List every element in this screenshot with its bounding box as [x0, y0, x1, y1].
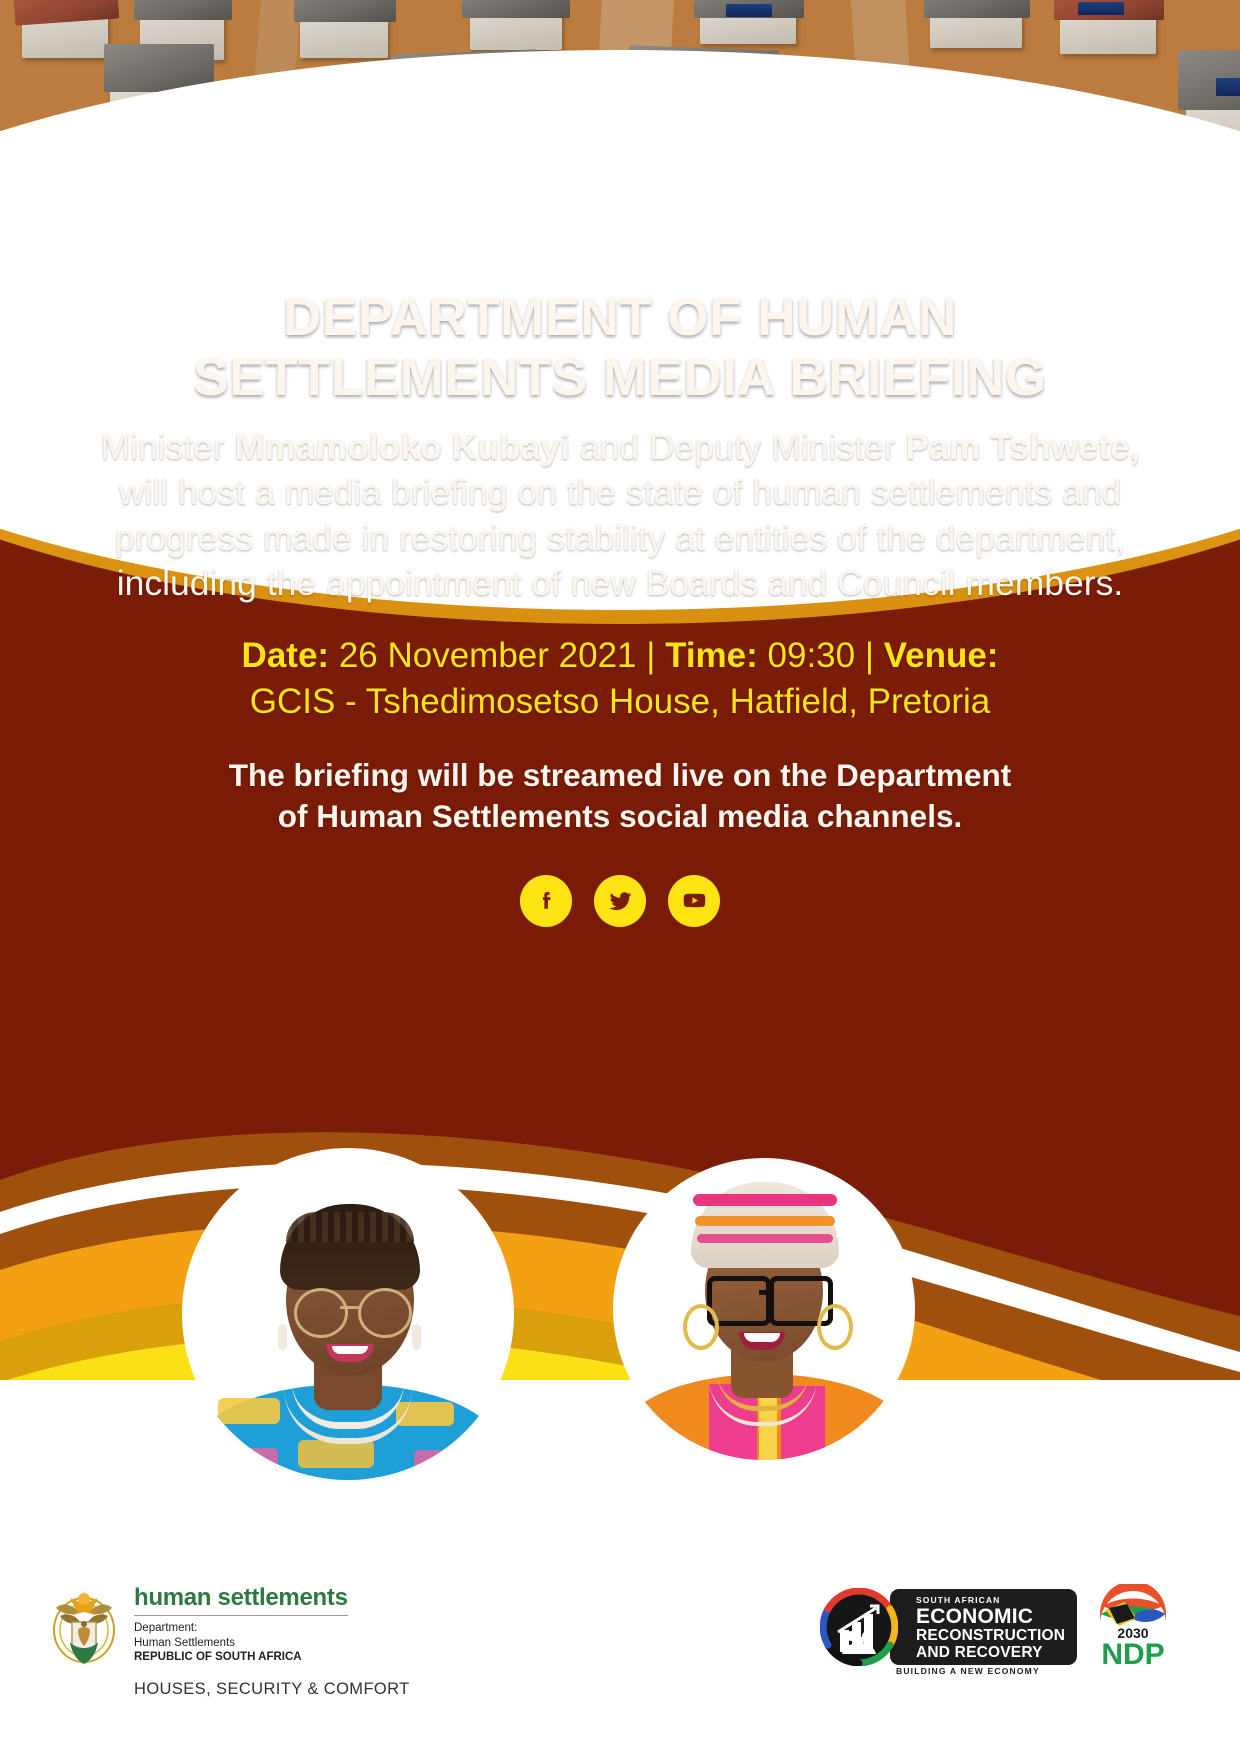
ndp-2030-logo: 2030 NDP: [1085, 1584, 1181, 1670]
photo-solar-geyser: [726, 4, 772, 17]
minister-mmamoloko-kubayi-portrait: [182, 1148, 514, 1480]
streaming-note-line-2: of Human Settlements social media channe…: [110, 796, 1130, 837]
hs-sub-line-1: Department:: [134, 1621, 348, 1636]
portrait-teeth: [744, 1333, 780, 1342]
portrait-glasses-bridge: [759, 1290, 773, 1295]
portrait-teeth: [332, 1346, 368, 1354]
south-african-coat-of-arms: [48, 1580, 120, 1666]
economic-recovery-logo: SOUTH AFRICAN ECONOMIC RECONSTRUCTION AN…: [820, 1588, 1077, 1666]
briefing-description: Minister Mmamoloko Kubayi and Deputy Min…: [80, 425, 1160, 607]
human-settlements-subtitle: Department: Human Settlements REPUBLIC O…: [134, 1621, 348, 1665]
body-seg-3: and Deputy Minister: [570, 427, 905, 467]
date-value: 26 November 2021: [339, 636, 637, 675]
err-tagline: BUILDING A NEW ECONOMY: [896, 1666, 1040, 1676]
err-line-4: AND RECOVERY: [916, 1645, 1065, 1661]
portrait-pattern: [298, 1440, 374, 1468]
streaming-note-line-1: The briefing will be streamed live on th…: [110, 755, 1130, 796]
body-seg-1: Minister: [100, 427, 234, 467]
deputy-minister-pam-tshwete-portrait: [613, 1158, 915, 1460]
portrait-glasses: [294, 1288, 348, 1338]
separator-1: |: [646, 636, 655, 675]
media-briefing-poster: DEPARTMENT OF HUMAN SETTLEMENTS MEDIA BR…: [0, 0, 1240, 1754]
hs-sub-line-2: Human Settlements: [134, 1636, 348, 1651]
portrait-pattern: [218, 1398, 280, 1424]
err-line-2: ECONOMIC: [916, 1606, 1065, 1627]
streaming-note: The briefing will be streamed live on th…: [110, 755, 1130, 837]
portrait-earring: [278, 1324, 287, 1350]
portrait-headwrap-stripe: [693, 1194, 837, 1206]
ndp-acronym: NDP: [1101, 1638, 1164, 1670]
twitter-icon[interactable]: [594, 875, 646, 927]
portrait-earring: [412, 1324, 421, 1350]
photo-solar-geyser: [1078, 2, 1124, 15]
portrait-glasses-bridge: [340, 1306, 360, 1309]
hs-country: REPUBLIC OF SOUTH AFRICA: [134, 1650, 348, 1665]
time-value: 09:30: [768, 636, 856, 675]
page-title: DEPARTMENT OF HUMAN SETTLEMENTS MEDIA BR…: [80, 288, 1160, 409]
photo-solar-geyser: [1216, 78, 1240, 96]
human-settlements-title: human settlements: [134, 1586, 348, 1616]
photo-roof: [134, 0, 232, 20]
separator-2: |: [865, 636, 874, 675]
title-line-1: DEPARTMENT OF HUMAN: [80, 288, 1160, 348]
youtube-icon[interactable]: [668, 875, 720, 927]
human-settlements-logo: human settlements Department: Human Sett…: [48, 1580, 348, 1666]
event-details: Date: 26 November 2021 | Time: 09:30 | V…: [70, 633, 1170, 725]
portrait-headwrap-stripe: [697, 1234, 833, 1243]
portrait-glasses: [358, 1288, 412, 1338]
portrait-earring: [683, 1304, 719, 1350]
deputy-minister-name: Pam Tshwete,: [905, 427, 1139, 467]
date-label: Date:: [242, 636, 330, 675]
venue-value: GCIS - Tshedimosetso House, Hatfield, Pr…: [70, 679, 1170, 725]
portrait-group: [0, 1120, 1240, 1540]
portrait-pattern: [234, 1448, 278, 1470]
facebook-icon[interactable]: [520, 875, 572, 927]
err-line-1: SOUTH AFRICAN: [916, 1596, 1065, 1605]
photo-roof: [924, 0, 1030, 18]
economic-recovery-ring-icon: [820, 1588, 898, 1666]
poster-content: DEPARTMENT OF HUMAN SETTLEMENTS MEDIA BR…: [0, 200, 1240, 927]
body-seg-5: will host a media briefing on the state …: [115, 472, 1125, 603]
photo-roof: [294, 0, 396, 22]
minister-name: Mmamoloko Kubayi: [235, 427, 570, 467]
err-line-3: RECONSTRUCTION: [916, 1628, 1065, 1644]
economic-recovery-wordmark: SOUTH AFRICAN ECONOMIC RECONSTRUCTION AN…: [890, 1589, 1077, 1666]
portrait-headwrap-stripe: [695, 1216, 835, 1226]
venue-label: Venue:: [884, 636, 999, 675]
title-line-2: SETTLEMENTS MEDIA BRIEFING: [80, 348, 1160, 408]
human-settlements-wordmark: human settlements Department: Human Sett…: [134, 1580, 348, 1665]
social-media-links: [0, 875, 1240, 927]
photo-roof: [462, 0, 570, 18]
portrait-hair-texture: [286, 1212, 414, 1242]
portrait-earring: [817, 1304, 853, 1350]
human-settlements-tagline: HOUSES, SECURITY & COMFORT: [134, 1680, 410, 1699]
portrait-pattern: [414, 1450, 456, 1472]
time-label: Time:: [665, 636, 758, 675]
event-details-line-1: Date: 26 November 2021 | Time: 09:30 | V…: [70, 633, 1170, 679]
